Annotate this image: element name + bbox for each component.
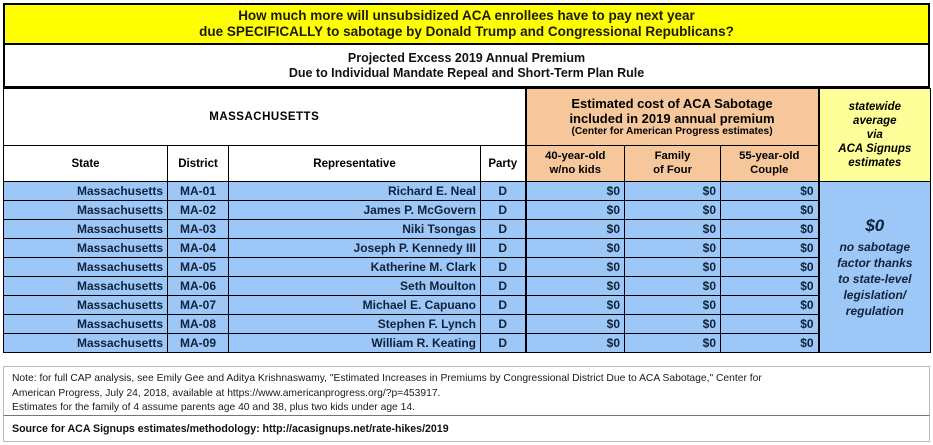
cell-representative: Michael E. Capuano: [229, 296, 481, 315]
cell-age55: $0: [721, 182, 819, 201]
sabotage-header-line-3: (Center for American Progress estimates): [530, 126, 815, 138]
cell-family: $0: [625, 201, 721, 220]
column-header-age55-line-1: 55-year-old: [739, 150, 799, 162]
cell-district: MA-06: [168, 277, 229, 296]
statewide-header-line-2: average: [853, 115, 896, 127]
cell-party: D: [481, 277, 526, 296]
cell-district: MA-05: [168, 258, 229, 277]
table-row[interactable]: Massachusetts MA-05 Katherine M. Clark D…: [4, 258, 931, 277]
table-row[interactable]: Massachusetts MA-06 Seth Moulton D $0 $0…: [4, 277, 931, 296]
statewide-average-cell: $0 no sabotage factor thanks to state-le…: [819, 182, 931, 353]
cell-age40: $0: [526, 220, 625, 239]
cell-age55: $0: [721, 277, 819, 296]
headline-line-1: How much more will unsubsidized ACA enro…: [238, 8, 695, 24]
statewide-note-line-4: legislation/: [824, 287, 927, 303]
statewide-header-cell: statewide average via ACA Signups estima…: [819, 89, 931, 182]
statewide-note-line-2: factor thanks: [824, 255, 927, 271]
table-row[interactable]: Massachusetts MA-02 James P. McGovern D …: [4, 201, 931, 220]
cell-state: Massachusetts: [4, 277, 168, 296]
statewide-header-line-1: statewide: [849, 101, 901, 113]
cell-age55: $0: [721, 258, 819, 277]
cell-age55: $0: [721, 201, 819, 220]
footnote-block: Note: for full CAP analysis, see Emily G…: [3, 366, 930, 416]
cell-representative: Seth Moulton: [229, 277, 481, 296]
subtitle-block: Projected Excess 2019 Annual Premium Due…: [3, 45, 930, 88]
spreadsheet-sheet: How much more will unsubsidized ACA enro…: [0, 0, 933, 445]
cell-representative: Richard E. Neal: [229, 182, 481, 201]
column-header-party: Party: [481, 146, 526, 182]
cell-age40: $0: [526, 334, 625, 353]
table-row[interactable]: Massachusetts MA-01 Richard E. Neal D $0…: [4, 182, 931, 201]
cell-family: $0: [625, 182, 721, 201]
cell-age55: $0: [721, 315, 819, 334]
cell-state: Massachusetts: [4, 258, 168, 277]
cell-age55: $0: [721, 220, 819, 239]
cell-party: D: [481, 182, 526, 201]
subtitle-line-2: Due to Individual Mandate Repeal and Sho…: [289, 66, 644, 81]
cell-party: D: [481, 315, 526, 334]
subtitle-line-1: Projected Excess 2019 Annual Premium: [348, 51, 585, 66]
table-row[interactable]: Massachusetts MA-04 Joseph P. Kennedy II…: [4, 239, 931, 258]
cell-age40: $0: [526, 277, 625, 296]
cell-state: Massachusetts: [4, 182, 168, 201]
cell-age40: $0: [526, 315, 625, 334]
table-row[interactable]: Massachusetts MA-07 Michael E. Capuano D…: [4, 296, 931, 315]
cell-district: MA-04: [168, 239, 229, 258]
cell-district: MA-08: [168, 315, 229, 334]
cell-state: Massachusetts: [4, 201, 168, 220]
cell-state: Massachusetts: [4, 315, 168, 334]
cell-representative: Katherine M. Clark: [229, 258, 481, 277]
sabotage-header-cell: Estimated cost of ACA Sabotage included …: [526, 89, 819, 146]
cell-party: D: [481, 258, 526, 277]
cell-family: $0: [625, 277, 721, 296]
cell-family: $0: [625, 334, 721, 353]
cell-family: $0: [625, 296, 721, 315]
cell-party: D: [481, 334, 526, 353]
table-row[interactable]: Massachusetts MA-09 William R. Keating D…: [4, 334, 931, 353]
cell-age55: $0: [721, 296, 819, 315]
column-header-family-line-2: of Four: [653, 164, 692, 176]
cell-age40: $0: [526, 258, 625, 277]
sabotage-header-line-1: Estimated cost of ACA Sabotage: [530, 96, 815, 111]
column-header-district: District: [168, 146, 229, 182]
cell-state: Massachusetts: [4, 239, 168, 258]
cell-district: MA-07: [168, 296, 229, 315]
column-header-state: State: [4, 146, 168, 182]
statewide-note-line-3: to state-level: [824, 271, 927, 287]
column-header-representative: Representative: [229, 146, 481, 182]
cell-representative: James P. McGovern: [229, 201, 481, 220]
cell-age55: $0: [721, 239, 819, 258]
cell-representative: Niki Tsongas: [229, 220, 481, 239]
cell-party: D: [481, 296, 526, 315]
cell-representative: Stephen F. Lynch: [229, 315, 481, 334]
state-title-cell: MASSACHUSETTS: [4, 89, 526, 146]
cell-age40: $0: [526, 182, 625, 201]
statewide-header-line-3: via: [867, 129, 883, 141]
headline-banner: How much more will unsubsidized ACA enro…: [3, 3, 930, 45]
cell-representative: William R. Keating: [229, 334, 481, 353]
statewide-header-line-4: ACA Signups: [838, 143, 911, 155]
footnote-line-3: Estimates for the family of 4 assume par…: [12, 401, 921, 416]
cell-representative: Joseph P. Kennedy III: [229, 239, 481, 258]
cell-district: MA-09: [168, 334, 229, 353]
headline-line-2: due SPECIFICALLY to sabotage by Donald T…: [199, 24, 734, 40]
cell-party: D: [481, 201, 526, 220]
table-row[interactable]: Massachusetts MA-08 Stephen F. Lynch D $…: [4, 315, 931, 334]
cell-family: $0: [625, 239, 721, 258]
cell-party: D: [481, 220, 526, 239]
column-header-family: Family of Four: [625, 146, 721, 182]
column-header-age40-line-1: 40-year-old: [545, 150, 605, 162]
cell-district: MA-02: [168, 201, 229, 220]
cell-age40: $0: [526, 201, 625, 220]
statewide-header-line-5: estimates: [848, 157, 901, 169]
column-header-family-line-1: Family: [655, 150, 691, 162]
column-header-age40: 40-year-old w/no kids: [526, 146, 625, 182]
cell-party: D: [481, 239, 526, 258]
source-block: Source for ACA Signups estimates/methodo…: [3, 416, 930, 442]
cell-family: $0: [625, 220, 721, 239]
cell-state: Massachusetts: [4, 334, 168, 353]
premium-table: MASSACHUSETTS Estimated cost of ACA Sabo…: [3, 88, 931, 353]
column-header-age55-line-2: Couple: [750, 164, 788, 176]
sabotage-header-line-2: included in 2019 annual premium: [530, 111, 815, 126]
table-column-header-row: State District Representative Party 40-y…: [4, 146, 931, 182]
statewide-note-line-1: no sabotage: [824, 239, 927, 255]
source-line: Source for ACA Signups estimates/methodo…: [12, 423, 449, 435]
statewide-amount: $0: [824, 215, 927, 238]
cell-state: Massachusetts: [4, 220, 168, 239]
cell-age55: $0: [721, 334, 819, 353]
column-header-age55: 55-year-old Couple: [721, 146, 819, 182]
cell-state: Massachusetts: [4, 296, 168, 315]
cell-age40: $0: [526, 239, 625, 258]
table-row[interactable]: Massachusetts MA-03 Niki Tsongas D $0 $0…: [4, 220, 931, 239]
statewide-note-line-5: regulation: [824, 303, 927, 319]
cell-family: $0: [625, 315, 721, 334]
column-header-age40-line-2: w/no kids: [550, 164, 601, 176]
cell-district: MA-03: [168, 220, 229, 239]
footnote-line-1: Note: for full CAP analysis, see Emily G…: [12, 372, 921, 387]
cell-age40: $0: [526, 296, 625, 315]
footnote-line-2: American Progress, July 24, 2018, availa…: [12, 387, 921, 402]
table-title-row: MASSACHUSETTS Estimated cost of ACA Sabo…: [4, 89, 931, 146]
cell-family: $0: [625, 258, 721, 277]
cell-district: MA-01: [168, 182, 229, 201]
